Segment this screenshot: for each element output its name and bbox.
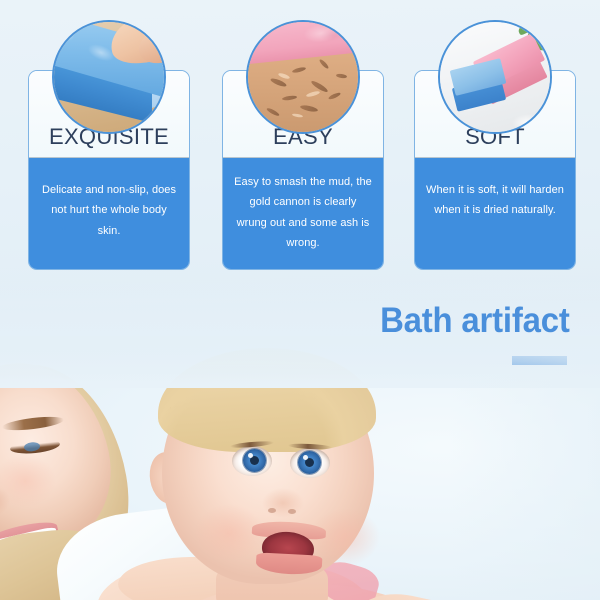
feature-image-exquisite: [52, 20, 166, 134]
hero-photo: [0, 336, 600, 600]
baby-left-eye-glint: [248, 453, 253, 458]
feature-image-easy: [246, 20, 360, 134]
feature-card-soft[interactable]: SOFT When it is soft, it will harden whe…: [414, 70, 576, 270]
card-body: Easy to smash the mud, the gold cannon i…: [223, 158, 383, 269]
sponges-towel-photo: [440, 22, 550, 132]
page-title: Bath artifact: [380, 303, 570, 338]
feature-image-soft: [438, 20, 552, 134]
feature-description: When it is soft, it will harden when it …: [415, 158, 575, 221]
feature-description: Delicate and non-slip, does not hurt the…: [29, 158, 189, 241]
baby-right-nostril: [288, 509, 296, 514]
photo-right-fade: [450, 336, 600, 600]
baby-right-eye-glint: [303, 455, 308, 460]
dirt-specks: [248, 22, 358, 132]
card-body: Delicate and non-slip, does not hurt the…: [29, 158, 189, 269]
sponge-hand-photo: [54, 22, 164, 132]
feature-card-exquisite[interactable]: EXQUISITE Delicate and non-slip, does no…: [28, 70, 190, 270]
card-body: When it is soft, it will harden when it …: [415, 158, 575, 269]
sponge-skin-photo: [248, 22, 358, 132]
baby-nose: [262, 488, 304, 518]
feature-card-easy[interactable]: EASY Easy to smash the mud, the gold can…: [222, 70, 384, 270]
infographic-canvas: EXQUISITE Delicate and non-slip, does no…: [0, 0, 600, 600]
feature-description: Easy to smash the mud, the gold cannon i…: [223, 158, 383, 254]
baby-left-nostril: [268, 508, 276, 513]
